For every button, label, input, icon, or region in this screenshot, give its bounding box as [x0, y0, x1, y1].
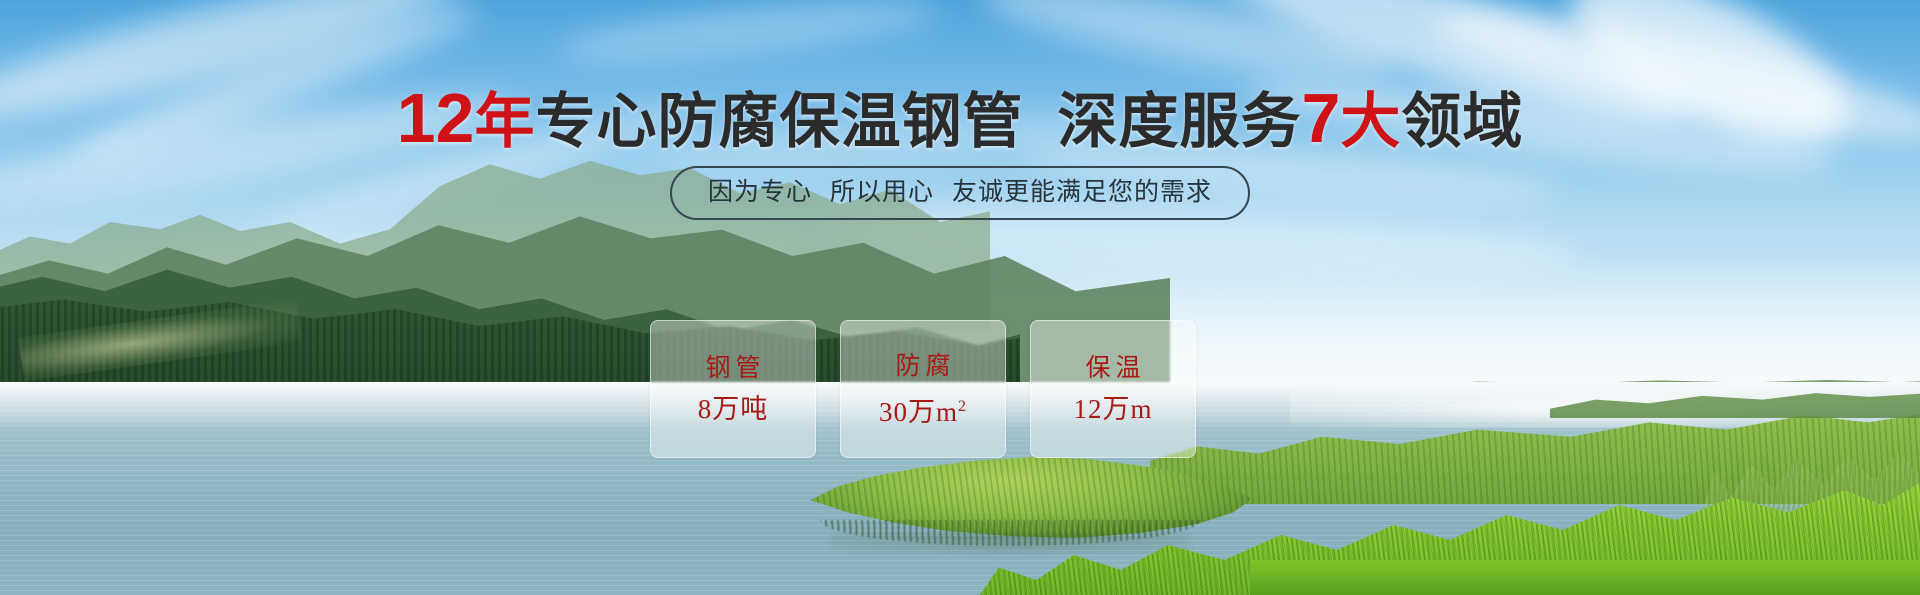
stat-card-insulation[interactable]: 保温 12万m: [1030, 320, 1196, 458]
stat-card-value: 30万m2: [879, 392, 967, 427]
cloud-streak-icon: [559, 0, 942, 72]
headline-years-unit: 年: [474, 88, 535, 155]
subtitle-phrase-3: 友诚更能满足您的需求: [952, 178, 1212, 206]
stat-card-title: 钢管: [700, 354, 765, 382]
stat-card-value-base: 8万吨: [698, 394, 769, 424]
stat-card-value: 12万m: [1073, 394, 1152, 424]
stat-card-steel-pipe[interactable]: 钢管 8万吨: [650, 320, 816, 458]
stat-card-title: 保温: [1080, 354, 1145, 382]
stat-card-value-superscript: 2: [958, 398, 967, 415]
stat-card-value-base: 30万m: [879, 397, 958, 427]
stat-card-title: 防腐: [890, 352, 955, 380]
headline-service-text: 深度服务: [1057, 88, 1301, 155]
banner-subtitle-wrapper: 因为专心所以用心友诚更能满足您的需求: [0, 166, 1920, 220]
grass-island-reflection: [830, 534, 1190, 554]
stat-card-value-base: 12万m: [1073, 394, 1152, 424]
promo-banner: 12年专心防腐保温钢管深度服务7大领域 因为专心所以用心友诚更能满足您的需求 钢…: [0, 0, 1920, 595]
headline-main-text: 专心防腐保温钢管: [535, 88, 1023, 155]
stat-card-anticorrosion[interactable]: 防腐 30万m2: [840, 320, 1006, 458]
subtitle-phrase-2: 所以用心: [830, 178, 934, 206]
headline-fields-unit-lingyu: 领域: [1401, 88, 1523, 155]
banner-subtitle-pill: 因为专心所以用心友诚更能满足您的需求: [670, 166, 1250, 220]
subtitle-phrase-1: 因为专心: [708, 178, 812, 206]
headline-fields-unit-da: 大: [1340, 88, 1401, 155]
headline-years-number: 12: [397, 79, 475, 157]
banner-headline: 12年专心防腐保温钢管深度服务7大领域: [0, 86, 1920, 154]
stat-card-value: 8万吨: [698, 394, 769, 424]
foreground-grass-lower: [1250, 560, 1920, 595]
headline-fields-number: 7: [1301, 79, 1340, 157]
stat-card-group: 钢管 8万吨 防腐 30万m2 保温 12万m: [650, 320, 1196, 458]
